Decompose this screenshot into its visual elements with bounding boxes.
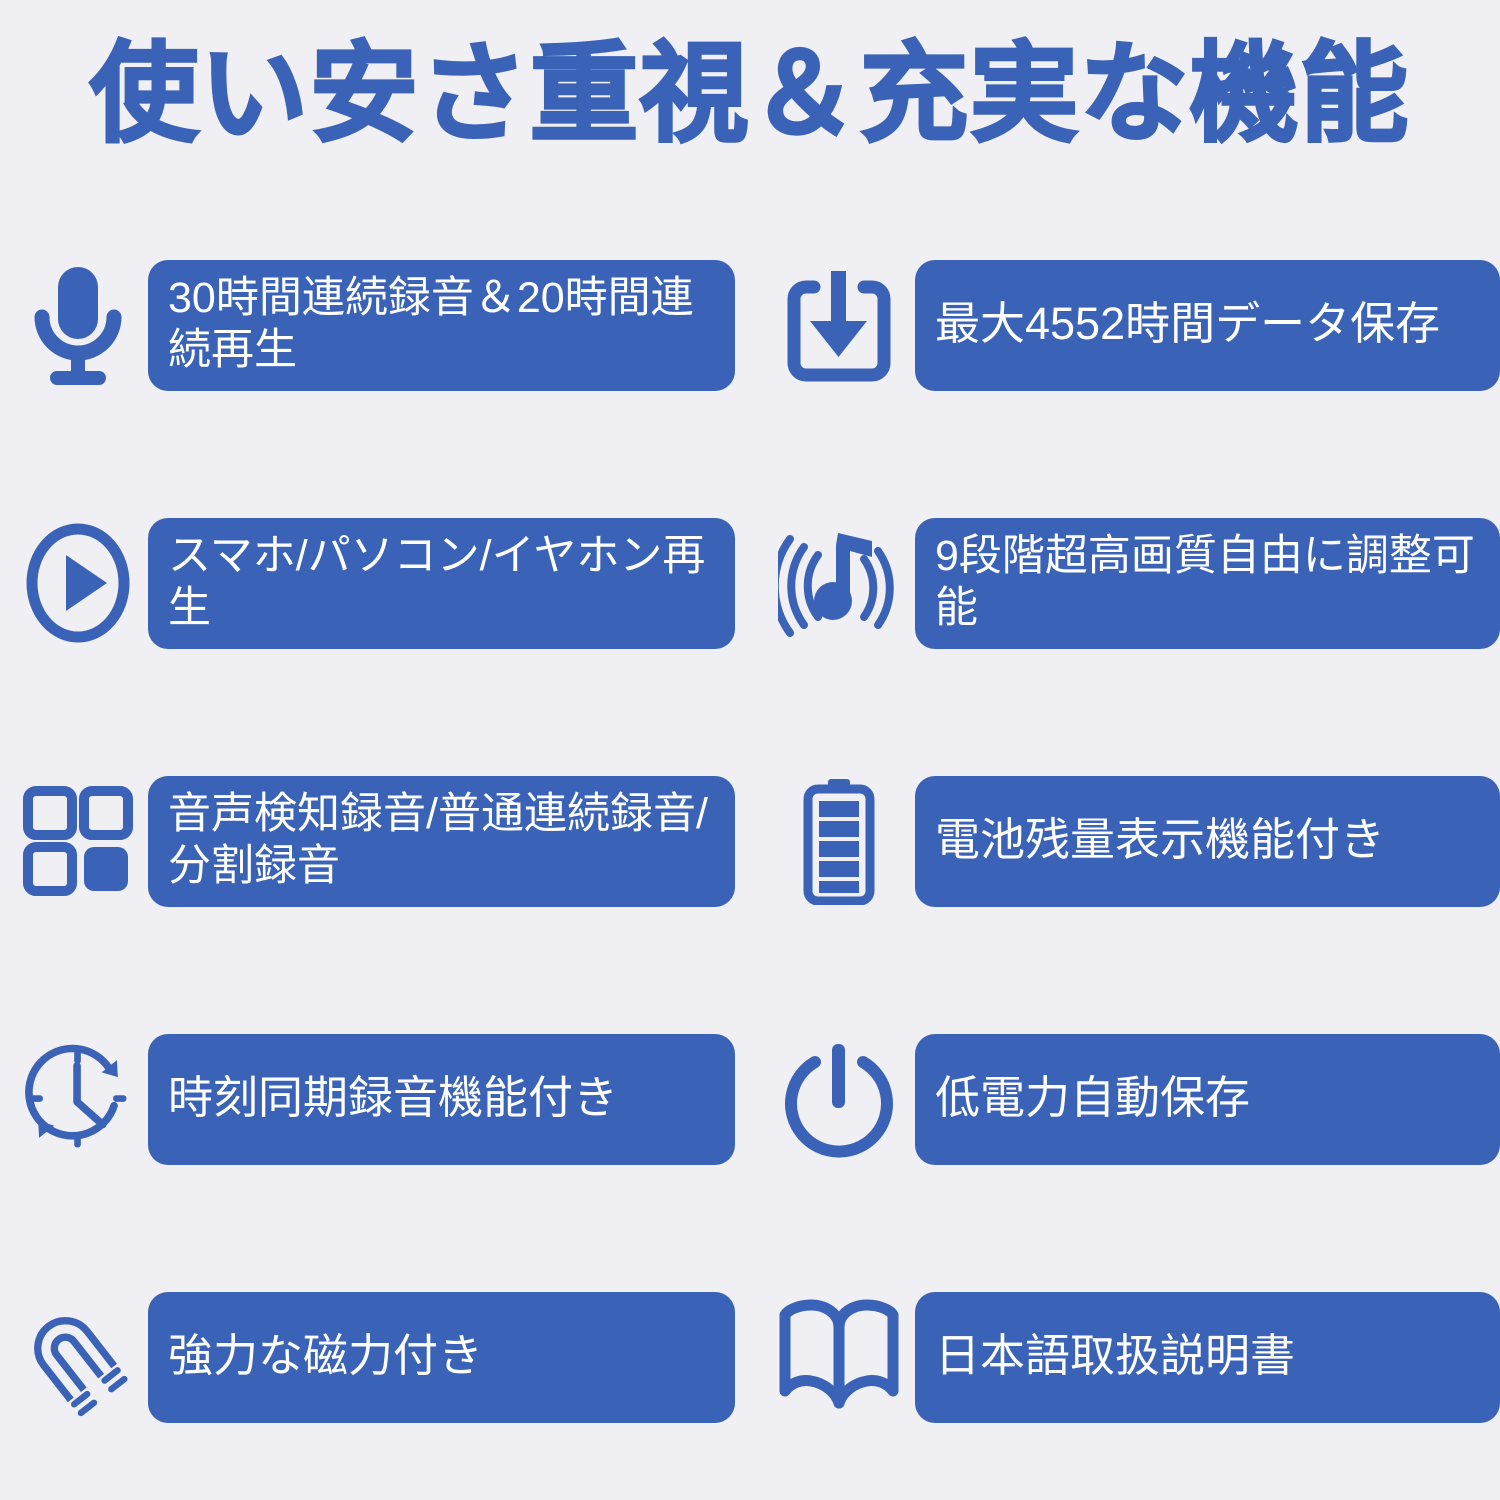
feature-label-pill: 9段階超高画質自由に調整可能 <box>915 518 1500 649</box>
feature-label-pill: スマホ/パソコン/イヤホン再生 <box>148 518 735 649</box>
feature-grid: 30時間連続録音＆20時間連続再生 最大4552時間データ保存 <box>0 196 1500 1486</box>
feature-item-recording-time: 30時間連続録音＆20時間連続再生 <box>0 196 735 454</box>
feature-item-manual: 日本語取扱説明書 <box>765 1228 1500 1486</box>
feature-label-pill: 強力な磁力付き <box>148 1292 735 1423</box>
save-download-icon <box>775 260 903 390</box>
feature-label: 低電力自動保存 <box>935 1071 1250 1126</box>
feature-label: 音声検知録音/普通連続録音/分割録音 <box>168 788 717 893</box>
page-title: 使い安さ重視＆充実な機能 <box>0 34 1500 155</box>
feature-label: 30時間連続録音＆20時間連続再生 <box>168 272 717 377</box>
feature-list-page: 使い安さ重視＆充実な機能 30時間連続録音＆20時間連続再生 <box>0 0 1500 1500</box>
feature-label-pill: 低電力自動保存 <box>915 1034 1500 1165</box>
feature-label-pill: 電池残量表示機能付き <box>915 776 1500 907</box>
feature-label: スマホ/パソコン/イヤホン再生 <box>168 530 717 635</box>
grid-squares-icon <box>22 776 134 906</box>
feature-label: 最大4552時間データ保存 <box>935 297 1440 352</box>
feature-item-low-power-autosave: 低電力自動保存 <box>765 970 1500 1228</box>
feature-item-time-sync: 時刻同期録音機能付き <box>0 970 735 1228</box>
feature-item-recording-modes: 音声検知録音/普通連続録音/分割録音 <box>0 712 735 970</box>
feature-item-storage-capacity: 最大4552時間データ保存 <box>765 196 1500 454</box>
magnet-icon <box>22 1292 134 1422</box>
feature-label: 9段階超高画質自由に調整可能 <box>935 530 1482 635</box>
feature-item-battery-indicator: 電池残量表示機能付き <box>765 712 1500 970</box>
feature-label: 強力な磁力付き <box>168 1329 483 1384</box>
battery-full-icon <box>775 776 903 906</box>
feature-label-pill: 日本語取扱説明書 <box>915 1292 1500 1423</box>
feature-label-pill: 音声検知録音/普通連続録音/分割録音 <box>148 776 735 907</box>
feature-label-pill: 30時間連続録音＆20時間連続再生 <box>148 260 735 391</box>
music-note-sound-icon <box>775 518 903 648</box>
feature-label-pill: 最大4552時間データ保存 <box>915 260 1500 391</box>
play-circle-icon <box>22 518 134 648</box>
microphone-icon <box>22 260 134 390</box>
feature-item-playback-devices: スマホ/パソコン/イヤホン再生 <box>0 454 735 712</box>
feature-label: 電池残量表示機能付き <box>935 813 1385 868</box>
clock-sync-icon <box>22 1034 134 1164</box>
feature-item-magnet: 強力な磁力付き <box>0 1228 735 1486</box>
power-icon <box>775 1034 903 1164</box>
feature-label-pill: 時刻同期録音機能付き <box>148 1034 735 1165</box>
feature-label: 日本語取扱説明書 <box>935 1329 1295 1384</box>
open-book-icon <box>775 1292 903 1422</box>
feature-item-quality-levels: 9段階超高画質自由に調整可能 <box>765 454 1500 712</box>
feature-label: 時刻同期録音機能付き <box>168 1071 618 1126</box>
